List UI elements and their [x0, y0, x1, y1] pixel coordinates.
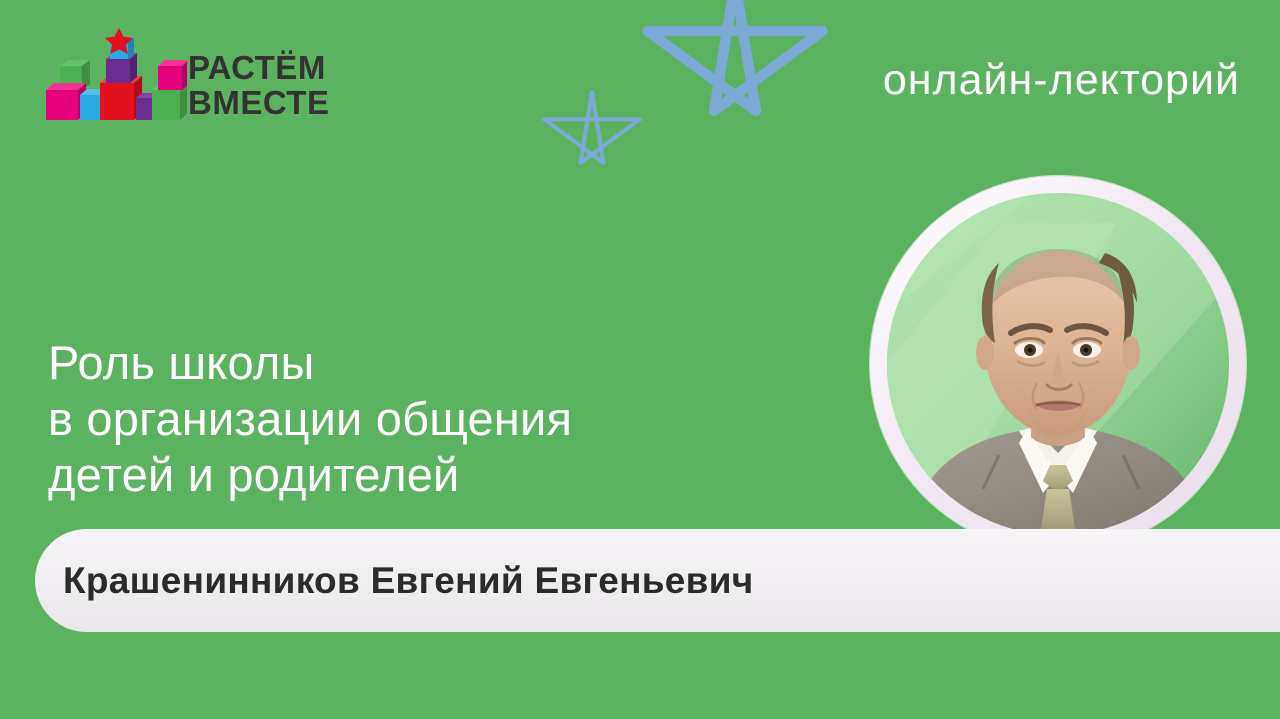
logo-wordmark: РАСТЁМ ВМЕСТЕ	[188, 50, 330, 120]
decorative-star-large-icon	[640, 0, 830, 164]
portrait-clip	[887, 193, 1229, 535]
block-magenta-right	[158, 60, 187, 90]
header-kicker: онлайн-лекторий	[883, 56, 1240, 105]
logo-blocks-icon	[42, 28, 187, 136]
speaker-portrait	[870, 176, 1246, 552]
speaker-name-bar: Крашенинников Евгений Евгеньевич	[35, 529, 1280, 632]
brand-logo: РАСТЁМ ВМЕСТЕ	[42, 28, 342, 136]
portrait-photo	[887, 193, 1229, 535]
decorative-star-small-icon	[540, 88, 644, 192]
lecture-announcement-slide: РАСТЁМ ВМЕСТЕ онлайн-лекторий	[0, 0, 1280, 719]
speaker-name: Крашенинников Евгений Евгеньевич	[63, 560, 754, 602]
page-title: Роль школы в организации общения детей и…	[48, 335, 838, 503]
